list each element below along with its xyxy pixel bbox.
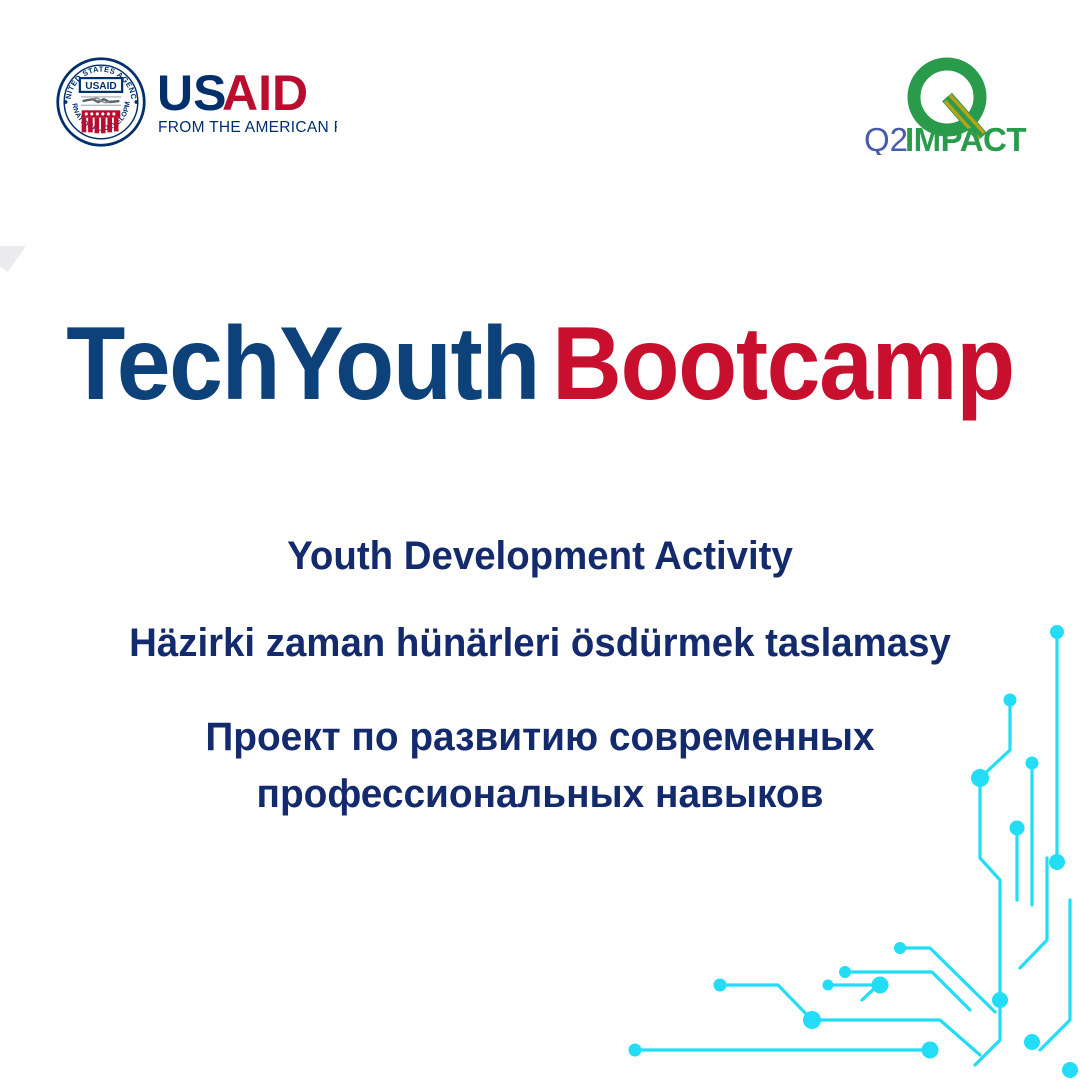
usaid-seal-icon: UNITED STATES AGENCY INTERNATIONAL DEVEL… (55, 56, 147, 148)
usaid-wordmark: US AID FROM THE AMERICAN PEOPLE (157, 66, 337, 138)
q2impact-logo: Q2 IMPACT (862, 55, 1032, 155)
usaid-wordmark-us: US (157, 66, 226, 121)
usaid-wordmark-aid: AID (222, 66, 308, 121)
subtitle-english: Youth Development Activity (22, 536, 1059, 576)
usaid-logo: UNITED STATES AGENCY INTERNATIONAL DEVEL… (55, 56, 337, 148)
subtitle-turkmen: Häzirki zaman hünärleri ösdürmek taslama… (22, 623, 1059, 663)
title-techyouth: TechYouth (66, 306, 539, 422)
header-logos: UNITED STATES AGENCY INTERNATIONAL DEVEL… (0, 0, 1080, 180)
title-bootcamp: Bootcamp (552, 306, 1014, 422)
usaid-tagline: FROM THE AMERICAN PEOPLE (158, 119, 337, 136)
subtitle-russian: Проект по развитию современных профессио… (16, 709, 1064, 823)
q2impact-wordmark-impact: IMPACT (905, 121, 1026, 155)
q2impact-wordmark-q2: Q2 (864, 121, 908, 155)
poster-canvas: UNITED STATES AGENCY INTERNATIONAL DEVEL… (0, 0, 1080, 1080)
corner-chevron-icon (0, 246, 26, 272)
svg-text:USAID: USAID (85, 81, 116, 92)
page-title: TechYouthBootcamp (38, 312, 1042, 416)
subtitle-block: Youth Development Activity Häzirki zaman… (0, 536, 1080, 823)
